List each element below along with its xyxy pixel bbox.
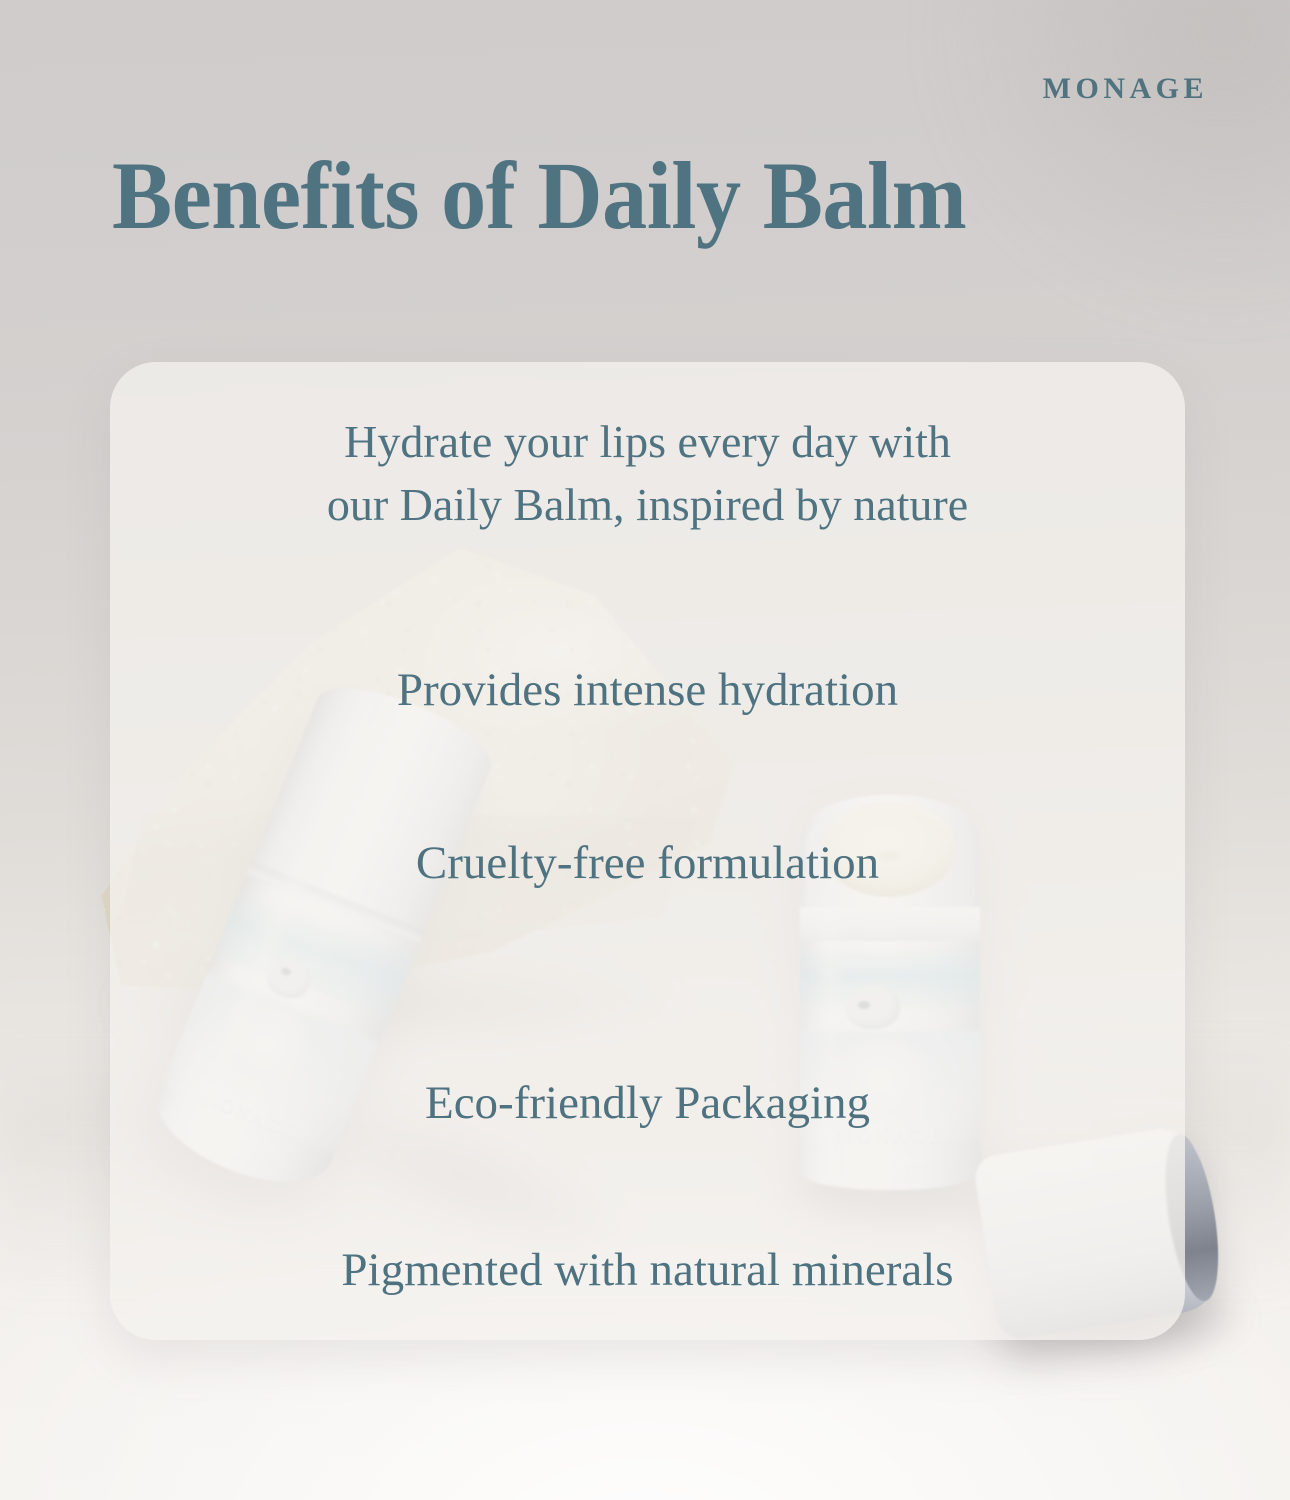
intro-line-2: our Daily Balm, inspired by nature xyxy=(110,473,1185,536)
poster-canvas: MONAGE Multi Daily Balm 멀티 데일리 밤 MONAGE … xyxy=(0,0,1290,1500)
page-title: Benefits of Daily Balm xyxy=(112,146,1118,247)
intro-paragraph: Hydrate your lips every day with our Dai… xyxy=(110,410,1185,537)
brand-logo: MONAGE xyxy=(1043,72,1208,106)
intro-line-1: Hydrate your lips every day with xyxy=(110,410,1185,473)
benefit-item-3: Eco-friendly Packaging xyxy=(110,1075,1185,1131)
benefit-item-4: Pigmented with natural minerals xyxy=(110,1242,1185,1298)
benefit-item-2: Cruelty-free formulation xyxy=(110,835,1185,891)
benefit-item-1: Provides intense hydration xyxy=(110,662,1185,718)
